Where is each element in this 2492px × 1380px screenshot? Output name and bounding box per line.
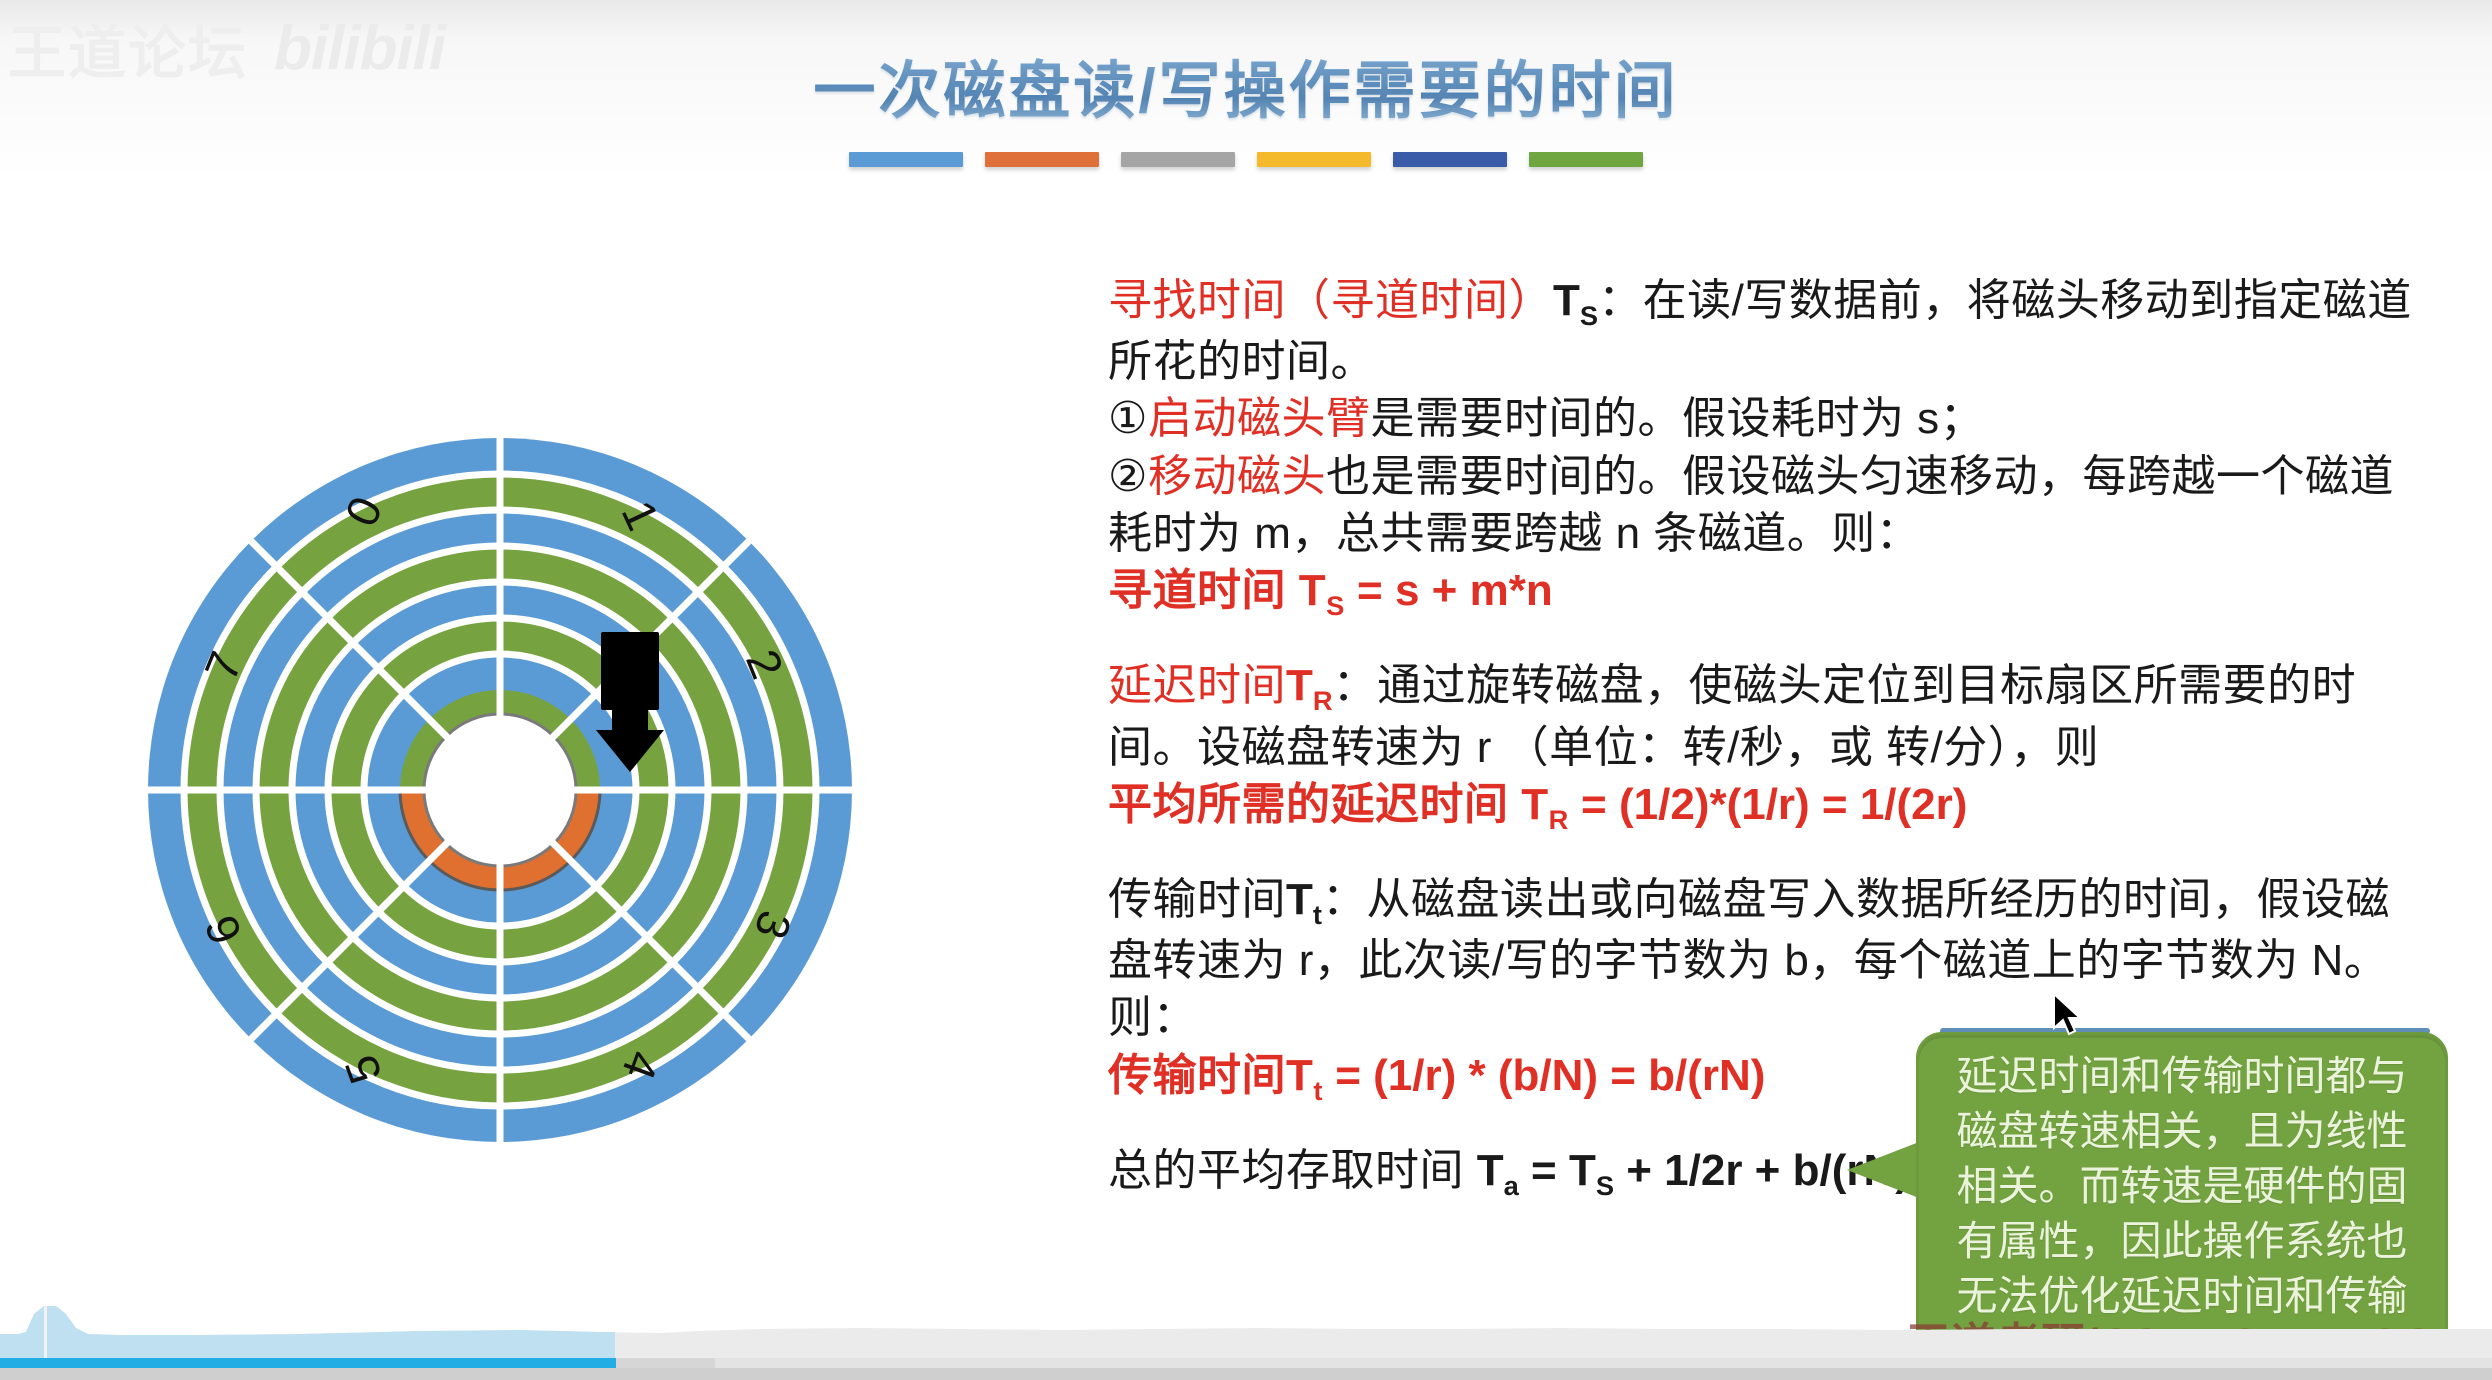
rule-bar-1 (849, 152, 963, 167)
sector-dividers (148, 438, 852, 1142)
latency-time-symbol: TR (1286, 661, 1333, 710)
latency-formula-body: = (1/2)*(1/r) = 1/(2r) (1569, 780, 1968, 829)
spacer-2 (1108, 837, 2418, 871)
seek-time-block: 寻找时间（寻道时间）TS：在读/写数据前，将磁头移动到指定磁道所花的时间。 ①启… (1108, 272, 2418, 623)
transfer-time-line-1: 传输时间Tt：从磁盘读出或向磁盘写入数据所经历的时间，假设磁盘转速为 r，此次读… (1108, 871, 2418, 1047)
transfer-formula-sub: t (1313, 1074, 1323, 1105)
rule-bar-6 (1529, 152, 1643, 167)
latency-formula-sub: R (1549, 803, 1569, 834)
total-symbol: Ta (1477, 1146, 1519, 1195)
seek-item-1-num: ① (1108, 394, 1148, 443)
transfer-formula-body: = (1/r) * (b/N) = b/(rN) (1323, 1051, 1765, 1100)
video-player-bar[interactable] (0, 1302, 2492, 1380)
seek-time-symbol: TS (1553, 276, 1598, 325)
callout-tail (1848, 1142, 1920, 1198)
total-eq-sub: S (1596, 1170, 1614, 1201)
latency-formula-symbol: T (1521, 780, 1548, 829)
latency-formula-label: 平均所需的延迟时间 (1108, 780, 1521, 829)
latency-time-term: 延迟时间 (1108, 661, 1286, 710)
seek-formula-symbol: T (1299, 566, 1326, 615)
transfer-time-term: 传输时间 (1108, 875, 1286, 924)
spacer-1 (1108, 623, 2418, 657)
player-footer-bar (0, 1368, 2492, 1380)
seek-formula-body: = s + m*n (1345, 566, 1553, 615)
seek-time-line-1: 寻找时间（寻道时间）TS：在读/写数据前，将磁头移动到指定磁道所花的时间。 (1108, 272, 2418, 390)
disk-platter-diagram: 0 1 2 3 4 5 6 7 (110, 400, 890, 1180)
slide-stage: 王道论坛 bilibili 一次磁盘读/写操作需要的时间 (0, 0, 2492, 1380)
seek-formula-sub: S (1326, 590, 1345, 621)
latency-time-block: 延迟时间TR：通过旋转磁盘，使磁头定位到目标扇区所需要的时间。设磁盘转速为 r … (1108, 657, 2418, 837)
rule-bar-3 (1121, 152, 1235, 167)
latency-time-line-1: 延迟时间TR：通过旋转磁盘，使磁头定位到目标扇区所需要的时间。设磁盘转速为 r … (1108, 657, 2418, 775)
seek-item-1: ①启动磁头臂是需要时间的。假设耗时为 s； (1108, 390, 2418, 447)
seek-item-1-rest: 是需要时间的。假设耗时为 s； (1370, 394, 1984, 443)
latency-time-formula: 平均所需的延迟时间 TR = (1/2)*(1/r) = 1/(2r) (1108, 776, 2418, 837)
progress-heatmap (0, 1304, 2492, 1362)
rule-bar-4 (1257, 152, 1371, 167)
page-title: 一次磁盘读/写操作需要的时间 (0, 40, 2492, 130)
transfer-time-symbol: Tt (1286, 875, 1322, 924)
total-label: 总的平均存取时间 (1108, 1146, 1477, 1195)
seek-item-2-red: 移动磁头 (1148, 452, 1326, 501)
seek-time-term: 寻找时间（寻道时间） (1108, 276, 1553, 325)
total-eq: = T (1519, 1146, 1596, 1195)
transfer-formula-label: 传输时间 (1108, 1051, 1286, 1100)
seek-item-2-num: ② (1108, 452, 1148, 501)
seek-time-formula: 寻道时间 TS = s + m*n (1108, 562, 2418, 623)
seek-item-1-red: 启动磁头臂 (1148, 394, 1371, 443)
rule-bar-5 (1393, 152, 1507, 167)
rule-bar-2 (985, 152, 1099, 167)
title-rule-bars (849, 152, 1643, 167)
seek-formula-label: 寻道时间 (1108, 566, 1299, 615)
transfer-formula-symbol: T (1286, 1051, 1313, 1100)
progress-played[interactable] (0, 1358, 616, 1368)
seek-item-2: ②移动磁头也是需要时间的。假设磁头匀速移动，每跨越一个磁道耗时为 m，总共需要跨… (1108, 448, 2418, 562)
